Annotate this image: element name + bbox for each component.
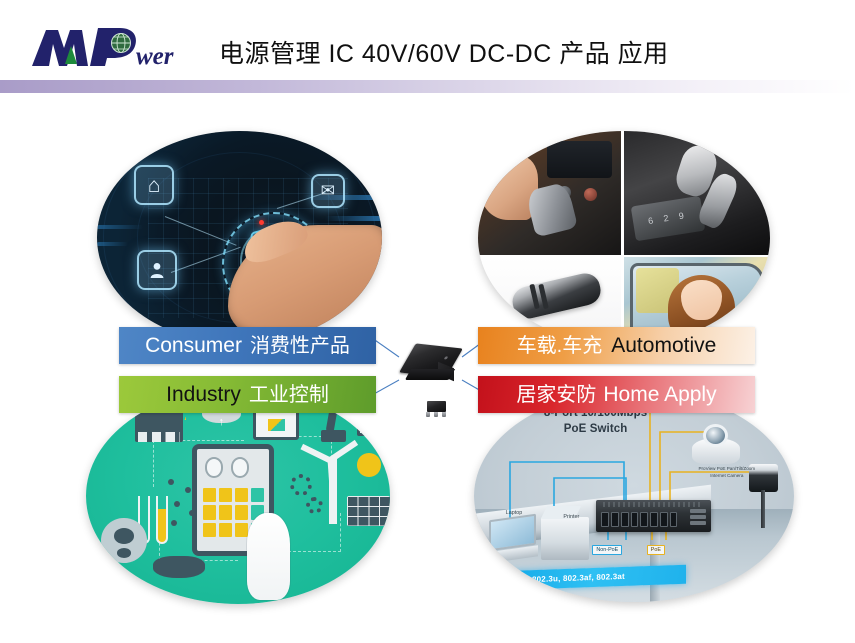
worker-avatar (101, 518, 147, 563)
mail-icon-glyph: ✉ (321, 182, 335, 199)
car-charger-body (510, 270, 604, 321)
tag-printer: Printer (560, 513, 582, 521)
gauge-left (205, 457, 224, 477)
home-icon: ⌂ (134, 165, 174, 205)
mpower-logo: wer (28, 24, 208, 76)
label-automotive-cn: 车载.车充 (517, 336, 603, 356)
shift-gate-plate: 6 2 9 (630, 195, 705, 240)
sot23-body (427, 401, 446, 412)
switch-vent-strip (603, 502, 702, 507)
pointing-hand (247, 513, 290, 599)
camera-caption-line1: ProView PoE Pan/Tilt/Zoom (679, 466, 775, 473)
vr-goggles-icon (153, 556, 205, 578)
tag-laptop: Laptop (503, 509, 526, 517)
camera-caption: ProView PoE Pan/Tilt/Zoom Internet Camer… (679, 466, 775, 480)
page-title: 电源管理 IC 40V/60V DC-DC 产品 应用 (219, 34, 669, 70)
label-industry-cn: 工业控制 (249, 385, 329, 405)
chip-front-face (405, 369, 455, 380)
camera-caption-line2: Internet Camera (679, 473, 775, 480)
gear-large (290, 474, 312, 496)
ptz-ip-camera (692, 420, 740, 465)
poe-switch-device (596, 500, 711, 532)
consumer-photo-smart-home-touch: ⌂ ✉ (97, 131, 382, 344)
sun-icon (357, 453, 381, 477)
solar-panel-icon (347, 496, 390, 526)
label-industry-en: Industry (166, 384, 241, 405)
label-home-en: Home Apply (603, 384, 716, 405)
label-industry[interactable]: Industry 工业控制 (119, 376, 376, 413)
label-automotive-en: Automotive (611, 335, 716, 356)
gauge-right (231, 457, 250, 477)
home-icon-glyph: ⌂ (148, 175, 161, 196)
industry-illustration (86, 388, 390, 604)
car-console-panel (547, 141, 613, 178)
sot23-lead (434, 412, 438, 417)
person-icon (137, 250, 177, 290)
printer-device (541, 517, 589, 559)
label-consumer-en: Consumer (145, 335, 242, 356)
slide-header: wer 电源管理 IC 40V/60V DC-DC 产品 应用 (0, 0, 855, 95)
poe-switch-diagram: 8-Port 10/100Mbps PoE Switch (474, 390, 794, 602)
gear-small (306, 497, 323, 514)
qfn-ic-package (402, 346, 460, 390)
photo-gear-shifter: 6 2 9 (624, 131, 770, 255)
light-streak (325, 216, 382, 221)
sot23-lead (426, 412, 430, 417)
photo-hand-car-charger (478, 131, 621, 255)
laptop-device (484, 517, 538, 559)
mpower-logo-svg: wer (28, 24, 208, 76)
switch-ports (601, 512, 677, 527)
svg-text:wer: wer (136, 43, 174, 70)
mail-icon: ✉ (311, 174, 345, 208)
slide-body: ⌂ ✉ (0, 95, 855, 643)
switch-status-leds (690, 509, 706, 526)
label-consumer-cn: 消费性产品 (250, 336, 350, 356)
console-knob-red (584, 188, 597, 201)
label-consumer[interactable]: Consumer 消费性产品 (119, 327, 376, 364)
test-tube-filled (156, 496, 168, 544)
sot23-lead (442, 412, 446, 417)
tag-poe: PoE (647, 545, 665, 555)
pin1-marker (444, 356, 449, 359)
label-automotive[interactable]: 车载.车充 Automotive (478, 327, 755, 364)
header-divider-gradient (0, 80, 855, 93)
charger-tip (483, 304, 507, 328)
slide-canvas: wer 电源管理 IC 40V/60V DC-DC 产品 应用 (0, 0, 855, 643)
camera-mount-pole (761, 490, 765, 528)
gears-icon (290, 474, 326, 522)
robot-base (321, 430, 346, 442)
person-icon-glyph (148, 261, 166, 279)
tag-non-poe: Non-PoE (592, 545, 622, 555)
label-home-apply[interactable]: 居家安防 Home Apply (478, 376, 755, 413)
automotive-photo-collage: 6 2 9 (478, 131, 770, 345)
gear-plate-text: 6 2 9 (647, 210, 688, 226)
light-streak (97, 242, 128, 246)
printed-cube (268, 419, 285, 431)
sot23-ic-package (423, 399, 451, 419)
face (681, 280, 722, 320)
label-home-cn: 居家安防 (516, 385, 596, 405)
light-streak (97, 225, 143, 229)
